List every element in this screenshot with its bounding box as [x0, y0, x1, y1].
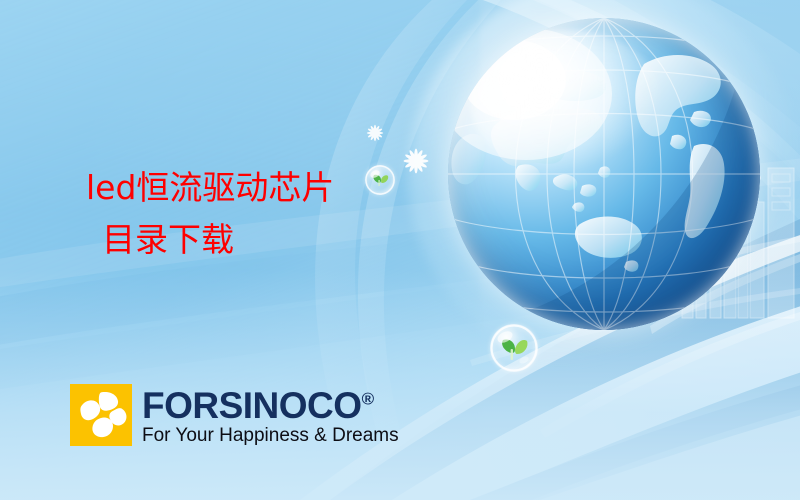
- brand-tagline: For Your Happiness & Dreams: [142, 425, 399, 447]
- forsinoco-pinwheel-mark-icon: [70, 384, 132, 446]
- registered-trademark-icon: ®: [362, 390, 375, 409]
- brand-name-word: FORSINOCO: [142, 385, 362, 426]
- world-globe: [448, 18, 760, 330]
- sparkle-star-large-icon: [401, 146, 431, 176]
- headline-line-1: led恒流驱动芯片: [86, 168, 334, 207]
- brand-logo-lockup[interactable]: FORSINOCO® For Your Happiness & Dreams: [70, 384, 399, 447]
- brand-name: FORSINOCO®: [142, 387, 399, 425]
- globe-rim: [448, 18, 760, 330]
- globe-sphere: [448, 18, 760, 330]
- promo-banner: led恒流驱动芯片 目录下载 FORSINOCO® For Your Happi…: [0, 0, 800, 500]
- headline-line-2: 目录下载: [86, 214, 334, 266]
- sparkle-star-small-icon: [365, 123, 385, 143]
- bubble-leaf-small-icon: [365, 165, 395, 195]
- headline-text: led恒流驱动芯片 目录下载: [86, 162, 334, 266]
- bubble-leaf-large-icon: [490, 324, 538, 372]
- brand-text-block: FORSINOCO® For Your Happiness & Dreams: [142, 384, 399, 447]
